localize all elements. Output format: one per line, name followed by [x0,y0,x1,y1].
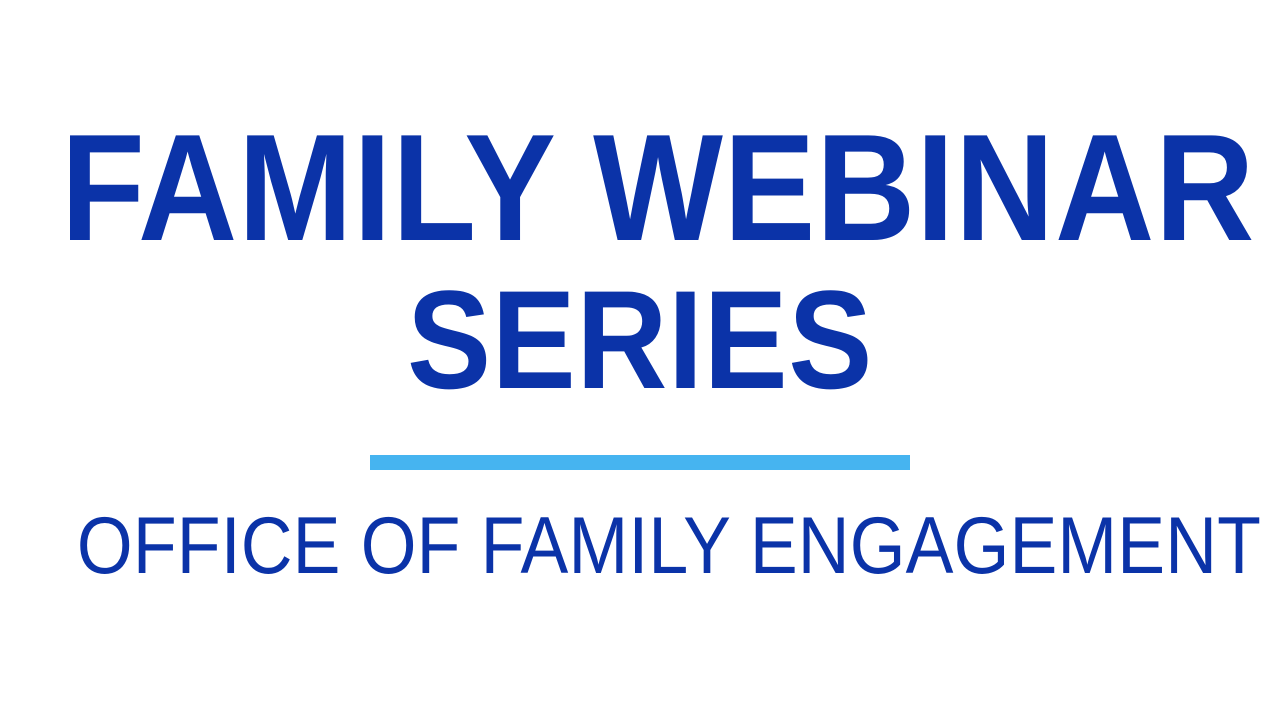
title-line-secondary: SERIES [64,270,1216,410]
subtitle-text: OFFICE OF FAMILY ENGAGEMENT [77,506,1261,587]
title-line-primary: FAMILY WEBINAR [61,112,1219,264]
title-slide: FAMILY WEBINAR SERIES OFFICE OF FAMILY E… [0,0,1280,725]
divider-container [0,455,1280,470]
subtitle-container: OFFICE OF FAMILY ENGAGEMENT [0,506,1280,587]
page-title: FAMILY WEBINAR SERIES [0,112,1280,410]
divider-rule [370,455,910,470]
